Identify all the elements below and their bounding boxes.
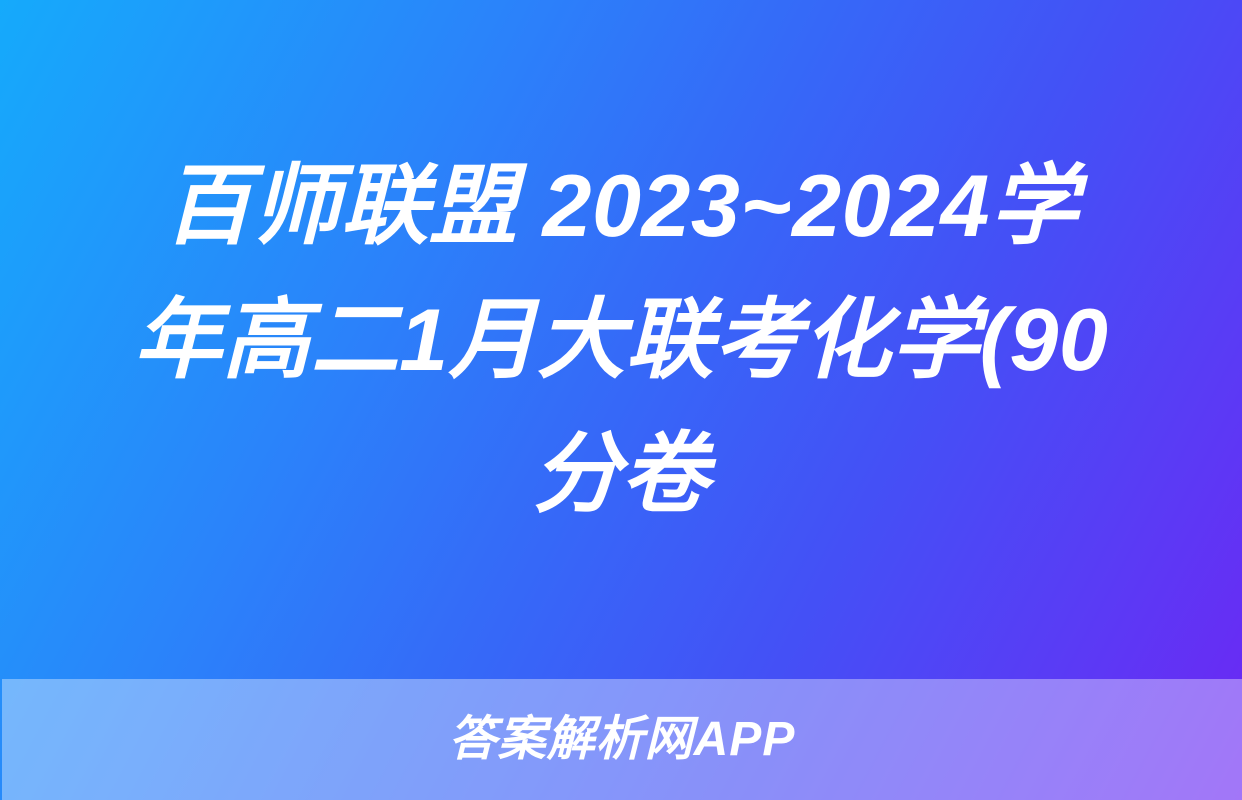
title-block: 百师联盟 2023~2024学 年高二1月大联考化学(90 分卷 <box>0 0 1242 680</box>
title-line-2: 年高二1月大联考化学(90 <box>78 273 1164 407</box>
app-watermark-label: 答案解析网APP <box>449 716 796 764</box>
exam-title-card: 百师联盟 2023~2024学 年高二1月大联考化学(90 分卷 答案解析网AP… <box>0 0 1242 800</box>
title-line-1: 百师联盟 2023~2024学 <box>78 139 1164 273</box>
title-line-3: 分卷 <box>78 407 1164 541</box>
watermark-band: 答案解析网APP <box>2 679 1242 800</box>
